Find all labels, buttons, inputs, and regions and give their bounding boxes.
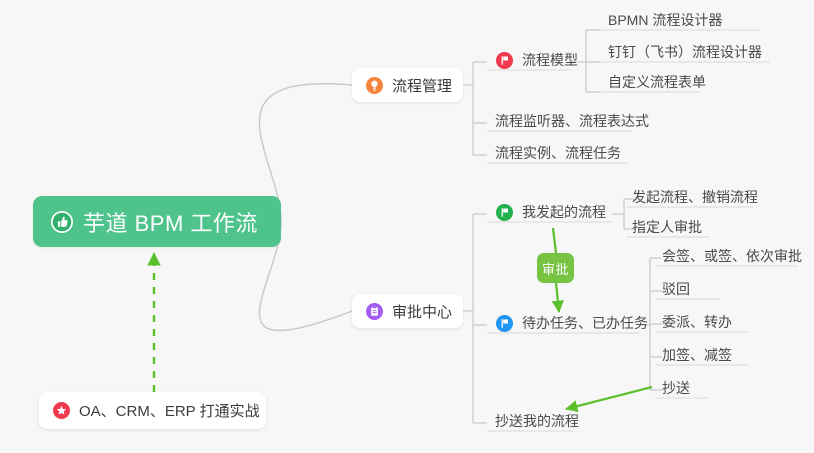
node-cc[interactable]: 抄送 [658,378,694,401]
node-label: 自定义流程表单 [608,72,706,92]
node-label: 我发起的流程 [522,202,606,222]
node-label: 指定人审批 [632,217,702,237]
thumbs-up-icon [51,211,73,233]
arrow-started-to-tag [553,228,556,253]
node-label: 流程模型 [522,50,578,70]
node-label: 委派、转办 [662,312,732,332]
branch-label: 流程管理 [392,75,452,96]
node-process-model[interactable]: 流程模型 [492,50,582,73]
mindmap-canvas: 芋道 BPM 工作流 流程管理 流程模型 BPMN 流程设计器 钉钉（飞书 [0,0,814,453]
node-todo-done-task[interactable]: 待办任务、已办任务 [492,313,652,336]
node-label: 会签、或签、依次审批 [662,246,802,266]
branch-approval-center[interactable]: 审批中心 [352,294,463,328]
node-cc-to-me-process[interactable]: 抄送我的流程 [491,411,583,434]
node-bpmn-designer[interactable]: BPMN 流程设计器 [604,10,726,33]
node-label: 流程监听器、流程表达式 [495,111,649,131]
node-assignee-approval[interactable]: 指定人审批 [628,217,706,240]
arrow-tag-to-todo [556,283,559,312]
tag-approve: 审批 [537,253,574,283]
node-label: 待办任务、已办任务 [522,313,648,333]
node-label: 抄送 [662,378,690,398]
tag-approve-label: 审批 [542,259,569,278]
node-label: OA、CRM、ERP 打通实战 [79,400,260,421]
flag-icon [496,204,513,221]
root-label: 芋道 BPM 工作流 [83,206,258,238]
node-my-started-process[interactable]: 我发起的流程 [492,202,610,225]
clipboard-icon [366,303,383,320]
node-reject[interactable]: 驳回 [658,279,694,302]
node-countersign[interactable]: 会签、或签、依次审批 [658,246,806,269]
node-label: 加签、减签 [662,345,732,365]
node-label: 抄送我的流程 [495,411,579,431]
node-label: 钉钉（飞书）流程设计器 [608,42,762,62]
node-label: BPMN 流程设计器 [608,10,722,30]
node-process-instance-task[interactable]: 流程实例、流程任务 [491,143,625,166]
node-custom-process-form[interactable]: 自定义流程表单 [604,72,710,95]
node-process-listener-expression[interactable]: 流程监听器、流程表达式 [491,111,653,134]
flag-icon [496,52,513,69]
arrow-cc-to-cc-my-process [566,387,652,409]
node-label: 发起流程、撤销流程 [632,187,758,207]
node-start-cancel-process[interactable]: 发起流程、撤销流程 [628,187,762,210]
node-delegate-transfer[interactable]: 委派、转办 [658,312,736,335]
node-label: 驳回 [662,279,690,299]
node-integration-practice[interactable]: OA、CRM、ERP 打通实战 [39,392,266,429]
lightbulb-icon [366,77,383,94]
branch-label: 审批中心 [392,301,452,322]
node-add-remove-sign[interactable]: 加签、减签 [658,345,736,368]
node-label: 流程实例、流程任务 [495,143,621,163]
branch-process-management[interactable]: 流程管理 [352,68,463,102]
root-node[interactable]: 芋道 BPM 工作流 [33,196,281,247]
node-dingtalk-feishu-designer[interactable]: 钉钉（飞书）流程设计器 [604,42,766,65]
flag-icon [496,315,513,332]
star-icon [53,402,70,419]
